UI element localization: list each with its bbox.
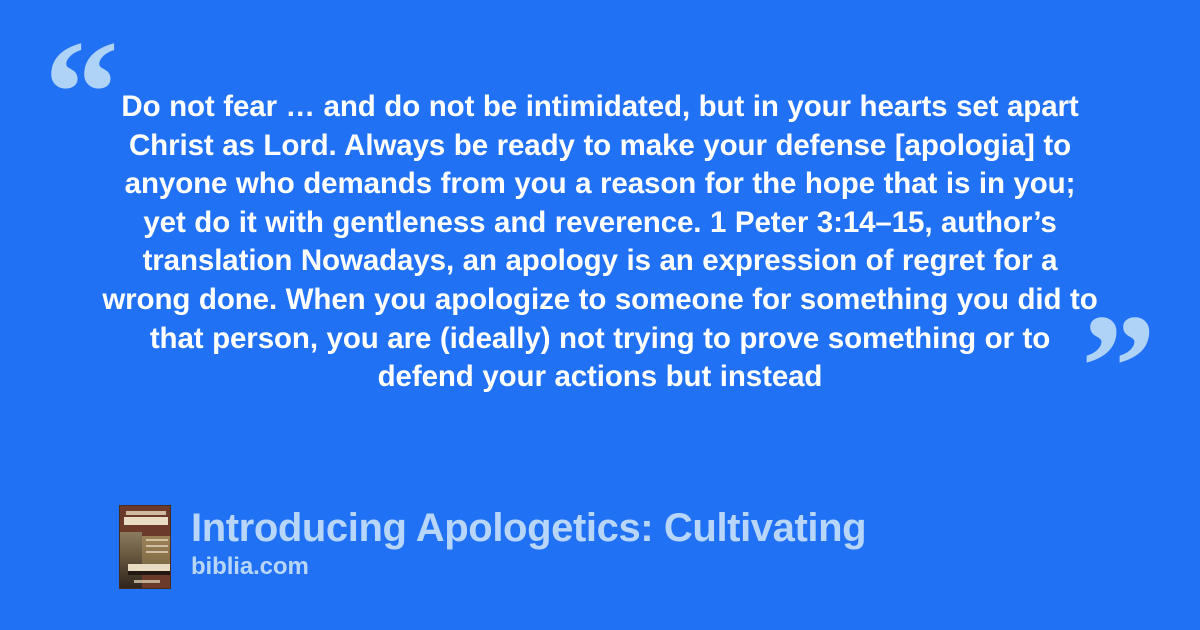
source-website[interactable]: biblia.com xyxy=(191,553,866,581)
attribution-text: Introducing Apologetics: Cultivating bib… xyxy=(191,505,866,581)
quote-text: Do not fear … and do not be intimidated,… xyxy=(100,88,1100,397)
quote-block: Do not fear … and do not be intimidated,… xyxy=(100,88,1100,397)
book-title[interactable]: Introducing Apologetics: Cultivating xyxy=(191,505,866,551)
closing-quotation-mark-icon: ” xyxy=(1081,292,1156,442)
cover-blurb-lines xyxy=(146,539,168,541)
cover-dark-band xyxy=(128,571,171,575)
quote-card: “ Do not fear … and do not be intimidate… xyxy=(0,0,1200,630)
cover-cream-band xyxy=(128,564,171,571)
book-cover-thumbnail xyxy=(119,505,171,589)
cover-author-line xyxy=(134,580,160,583)
cover-title-line xyxy=(124,517,168,525)
source-attribution[interactable]: Introducing Apologetics: Cultivating bib… xyxy=(119,505,866,589)
cover-subtitle-line xyxy=(126,511,166,515)
